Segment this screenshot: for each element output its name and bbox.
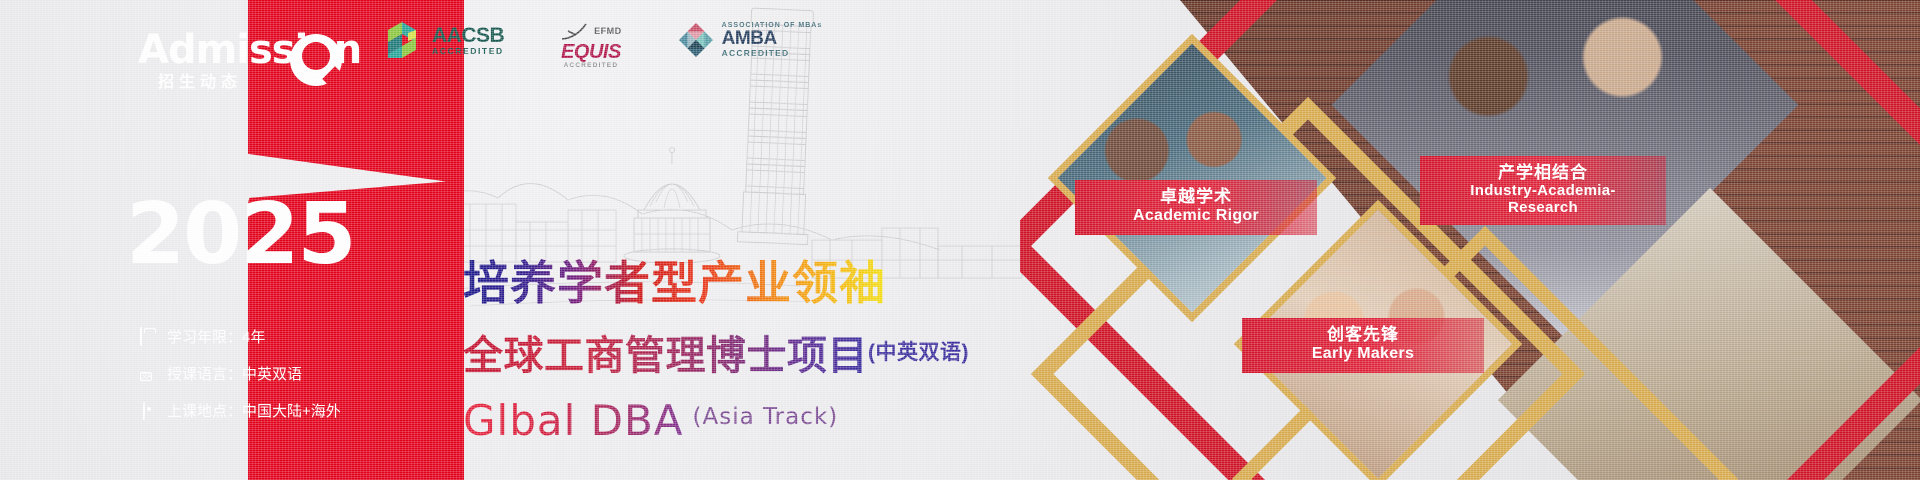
headline-program-en-paren: (Asia Track) xyxy=(693,394,839,444)
ribbon-industry-research-cn: 产学相结合 xyxy=(1438,163,1648,183)
equis-swoosh-icon xyxy=(560,22,590,42)
ribbon-early-makers: 创客先锋 Early Makers xyxy=(1242,318,1484,373)
amba-name: AMBA xyxy=(722,29,823,49)
ribbon-industry-research-en: Industry-Academia-Research xyxy=(1438,183,1648,216)
info-text-location: 上课地点：中国大陆+海外 xyxy=(167,400,341,421)
accreditation-equis: EFMD EQUIS ACCREDITED xyxy=(560,22,622,70)
location-pin-icon xyxy=(140,402,160,420)
headline-program-en: Glbal DBA (Asia Track) xyxy=(463,394,838,444)
accreditation-amba: ASSOCIATION OF MBAs AMBA ACCREDITED xyxy=(678,22,823,58)
headline-tagline: 培养学者型产业领袖 xyxy=(463,258,886,308)
language-icon: 文A xyxy=(140,365,160,383)
ribbon-early-makers-cn: 创客先锋 xyxy=(1260,325,1466,345)
headline-program-cn-main: 全球工商管理博士项目 xyxy=(463,334,868,378)
amba-logo-icon xyxy=(678,22,714,58)
info-row-language: 文A 授课语言：中英双语 xyxy=(140,363,340,384)
equis-sub: ACCREDITED xyxy=(560,63,622,70)
ribbon-academic-rigor: 卓越学术 Academic Rigor xyxy=(1075,180,1317,235)
photo-collage: 卓越学术 Academic Rigor 产学相结合 Industry-Acade… xyxy=(1020,0,1920,480)
accreditation-aacsb: AACSB ACCREDITED xyxy=(388,22,504,58)
headline-program-cn: 全球工商管理博士项目 (中英双语) xyxy=(463,331,969,378)
amba-sub: ACCREDITED xyxy=(722,49,823,58)
admission-banner: Admission 招生动态 2025 学习年限：4年 文A 授课语言：中英双语… xyxy=(0,0,1920,480)
ribbon-early-makers-en: Early Makers xyxy=(1260,345,1466,364)
admission-logo-chinese: 招生动态 xyxy=(158,68,242,92)
headline-program-cn-paren: (中英双语) xyxy=(868,331,969,378)
person-avatar-icon xyxy=(290,34,342,86)
headline-program-en-main: Glbal DBA xyxy=(463,398,684,444)
info-text-language: 授课语言：中英双语 xyxy=(167,363,302,384)
year-label: 2025 xyxy=(126,192,338,277)
equis-name: EQUIS xyxy=(560,42,622,63)
admission-logo: Admission 招生动态 xyxy=(138,30,348,100)
efmd-label: EFMD xyxy=(594,27,622,36)
aacsb-name: AACSB xyxy=(432,25,504,47)
ribbon-industry-research: 产学相结合 Industry-Academia-Research xyxy=(1420,156,1666,225)
ribbon-academic-rigor-en: Academic Rigor xyxy=(1093,207,1299,226)
info-row-location: 上课地点：中国大陆+海外 xyxy=(140,400,340,421)
accreditation-logos: AACSB ACCREDITED EFMD EQUIS ACCREDITED xyxy=(388,22,822,70)
program-info-list: 学习年限：4年 文A 授课语言：中英双语 上课地点：中国大陆+海外 xyxy=(140,326,340,437)
info-row-duration: 学习年限：4年 xyxy=(140,326,340,347)
book-icon xyxy=(140,328,160,346)
aacsb-sub: ACCREDITED xyxy=(432,47,504,56)
ribbon-academic-rigor-cn: 卓越学术 xyxy=(1093,187,1299,207)
info-text-duration: 学习年限：4年 xyxy=(167,326,265,347)
aacsb-logo-icon xyxy=(388,22,424,58)
